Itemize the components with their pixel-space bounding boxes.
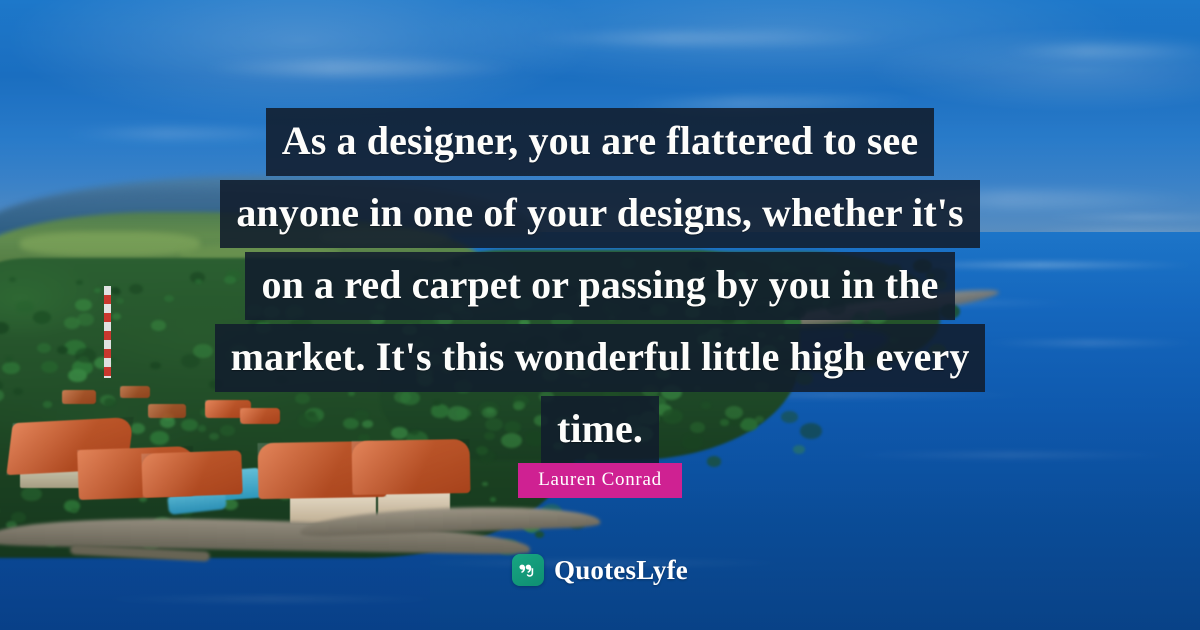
author-badge-container: Lauren Conrad — [0, 463, 1200, 498]
quotation-mark-icon — [512, 554, 544, 586]
quote-line: market. It's this wonderful little high … — [215, 324, 986, 392]
quote-line: anyone in one of your designs, whether i… — [220, 180, 979, 248]
quote-line: As a designer, you are flattered to see — [266, 108, 934, 176]
palm-canopy — [71, 508, 78, 513]
palm-canopy — [490, 497, 496, 501]
cloud-wisp — [520, 32, 900, 45]
author-badge: Lauren Conrad — [518, 463, 682, 498]
brand-name: QuotesLyfe — [554, 555, 688, 586]
quote-text-block: As a designer, you are flattered to see … — [0, 108, 1200, 464]
wave-streak — [90, 596, 450, 602]
quote-line: time. — [541, 396, 659, 464]
quote-line: on a red carpet or passing by you in the — [245, 252, 954, 320]
brand-logo[interactable]: QuotesLyfe — [0, 554, 1200, 586]
quote-card: As a designer, you are flattered to see … — [0, 0, 1200, 630]
cloud-wisp — [200, 60, 530, 76]
